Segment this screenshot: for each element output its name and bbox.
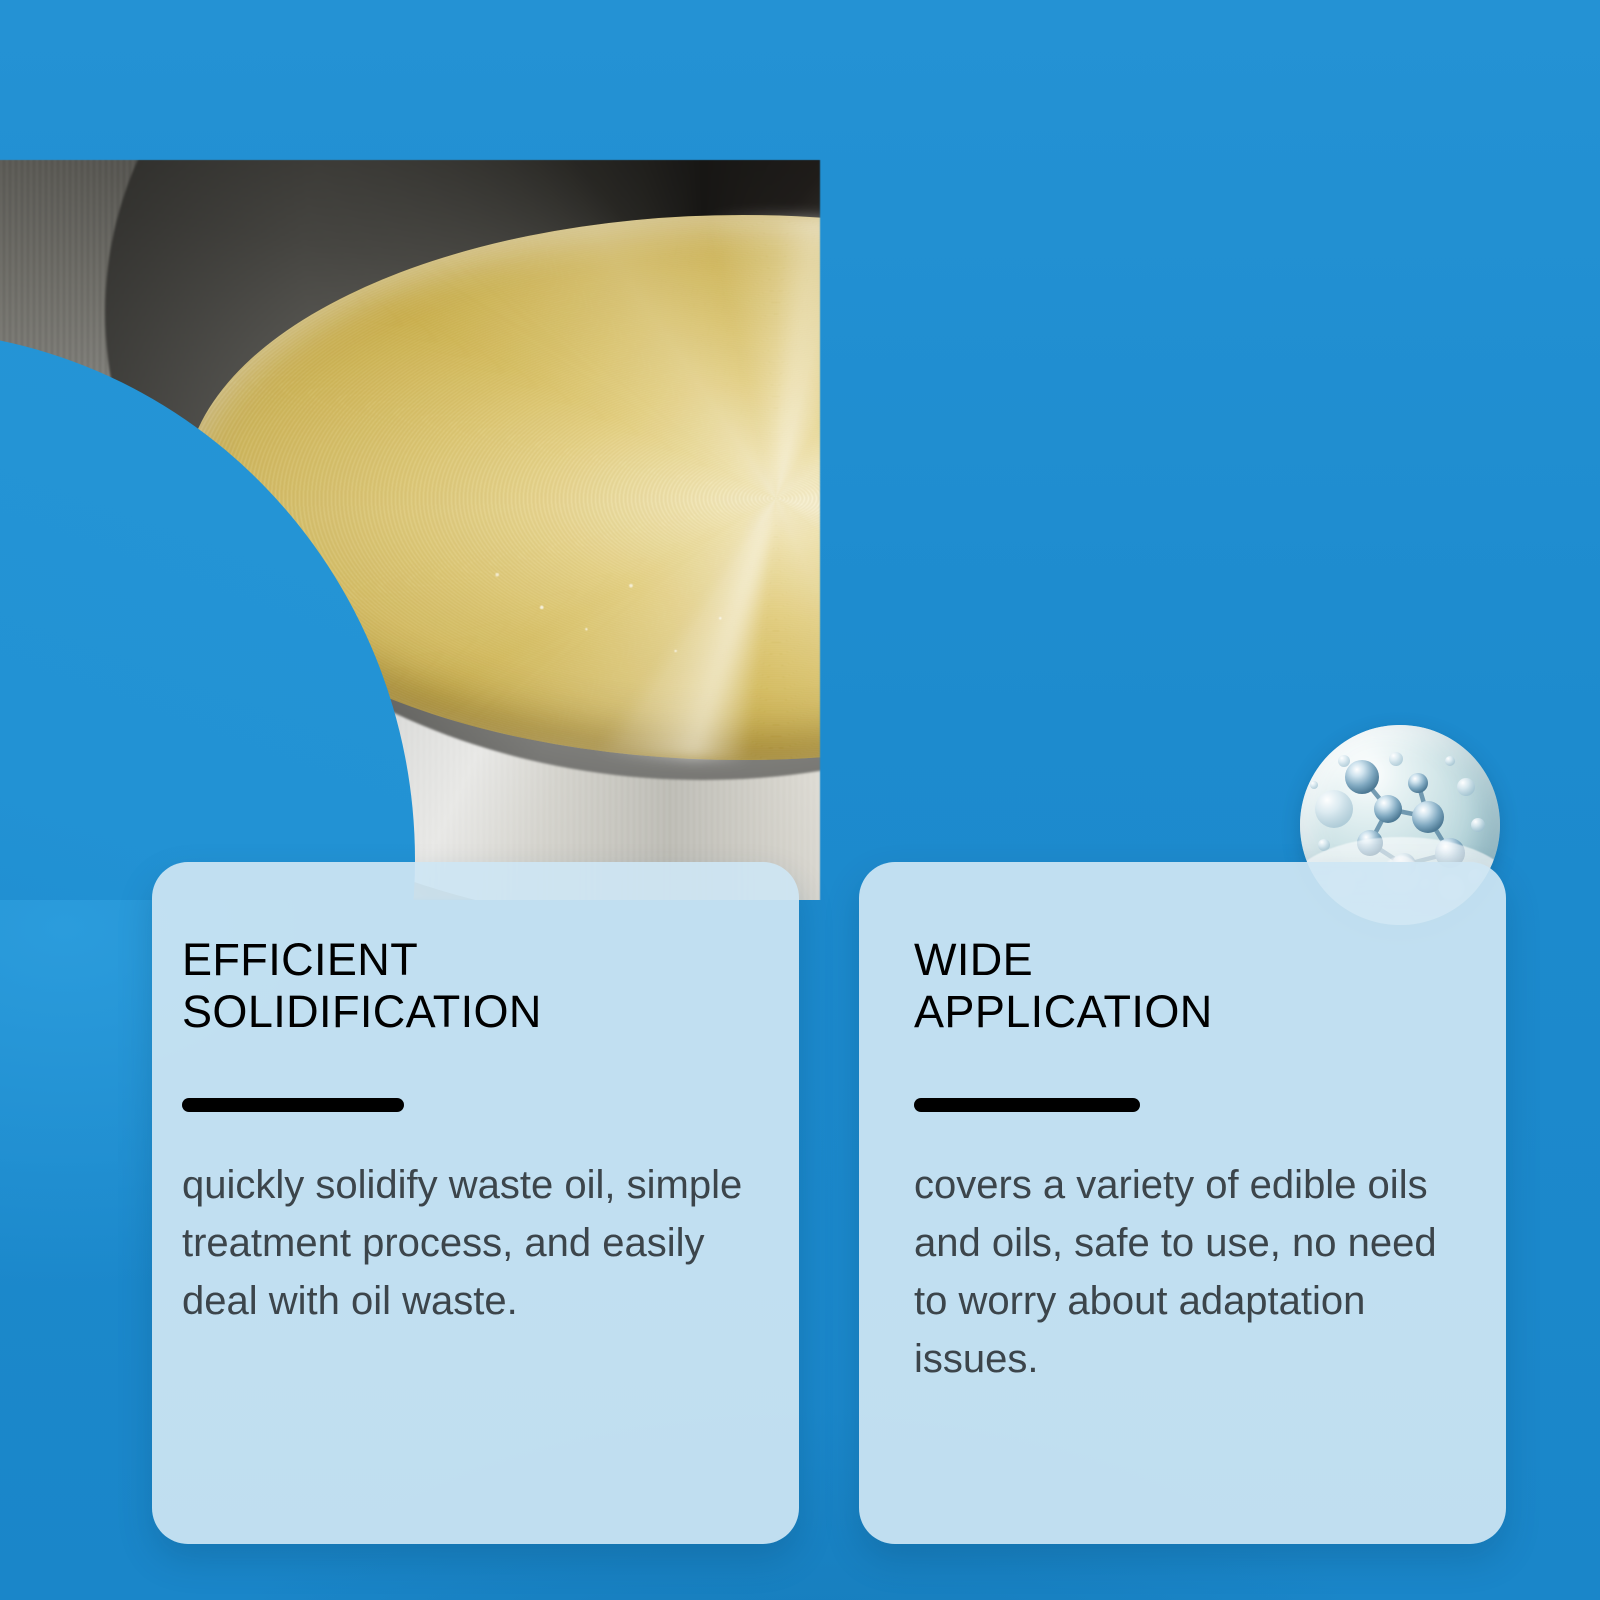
card-description: covers a variety of edible oils and oils… xyxy=(914,1156,1462,1388)
card-description: quickly solidify waste oil, simple treat… xyxy=(182,1156,755,1330)
feature-card-group: EFFICIENT SOLIDIFICATION quickly solidif… xyxy=(152,862,1506,1544)
feature-card-wide-application[interactable]: WIDE APPLICATION covers a variety of edi… xyxy=(859,862,1506,1544)
hero-photo-panel xyxy=(0,0,1485,900)
card-title: WIDE APPLICATION xyxy=(914,934,1462,1038)
title-divider-rule xyxy=(182,1098,404,1112)
card-title: EFFICIENT SOLIDIFICATION xyxy=(182,934,755,1038)
title-divider-rule xyxy=(914,1098,1140,1112)
feature-card-efficient-solidification[interactable]: EFFICIENT SOLIDIFICATION quickly solidif… xyxy=(152,862,799,1544)
product-feature-poster: EFFICIENT SOLIDIFICATION quickly solidif… xyxy=(0,0,1600,1600)
